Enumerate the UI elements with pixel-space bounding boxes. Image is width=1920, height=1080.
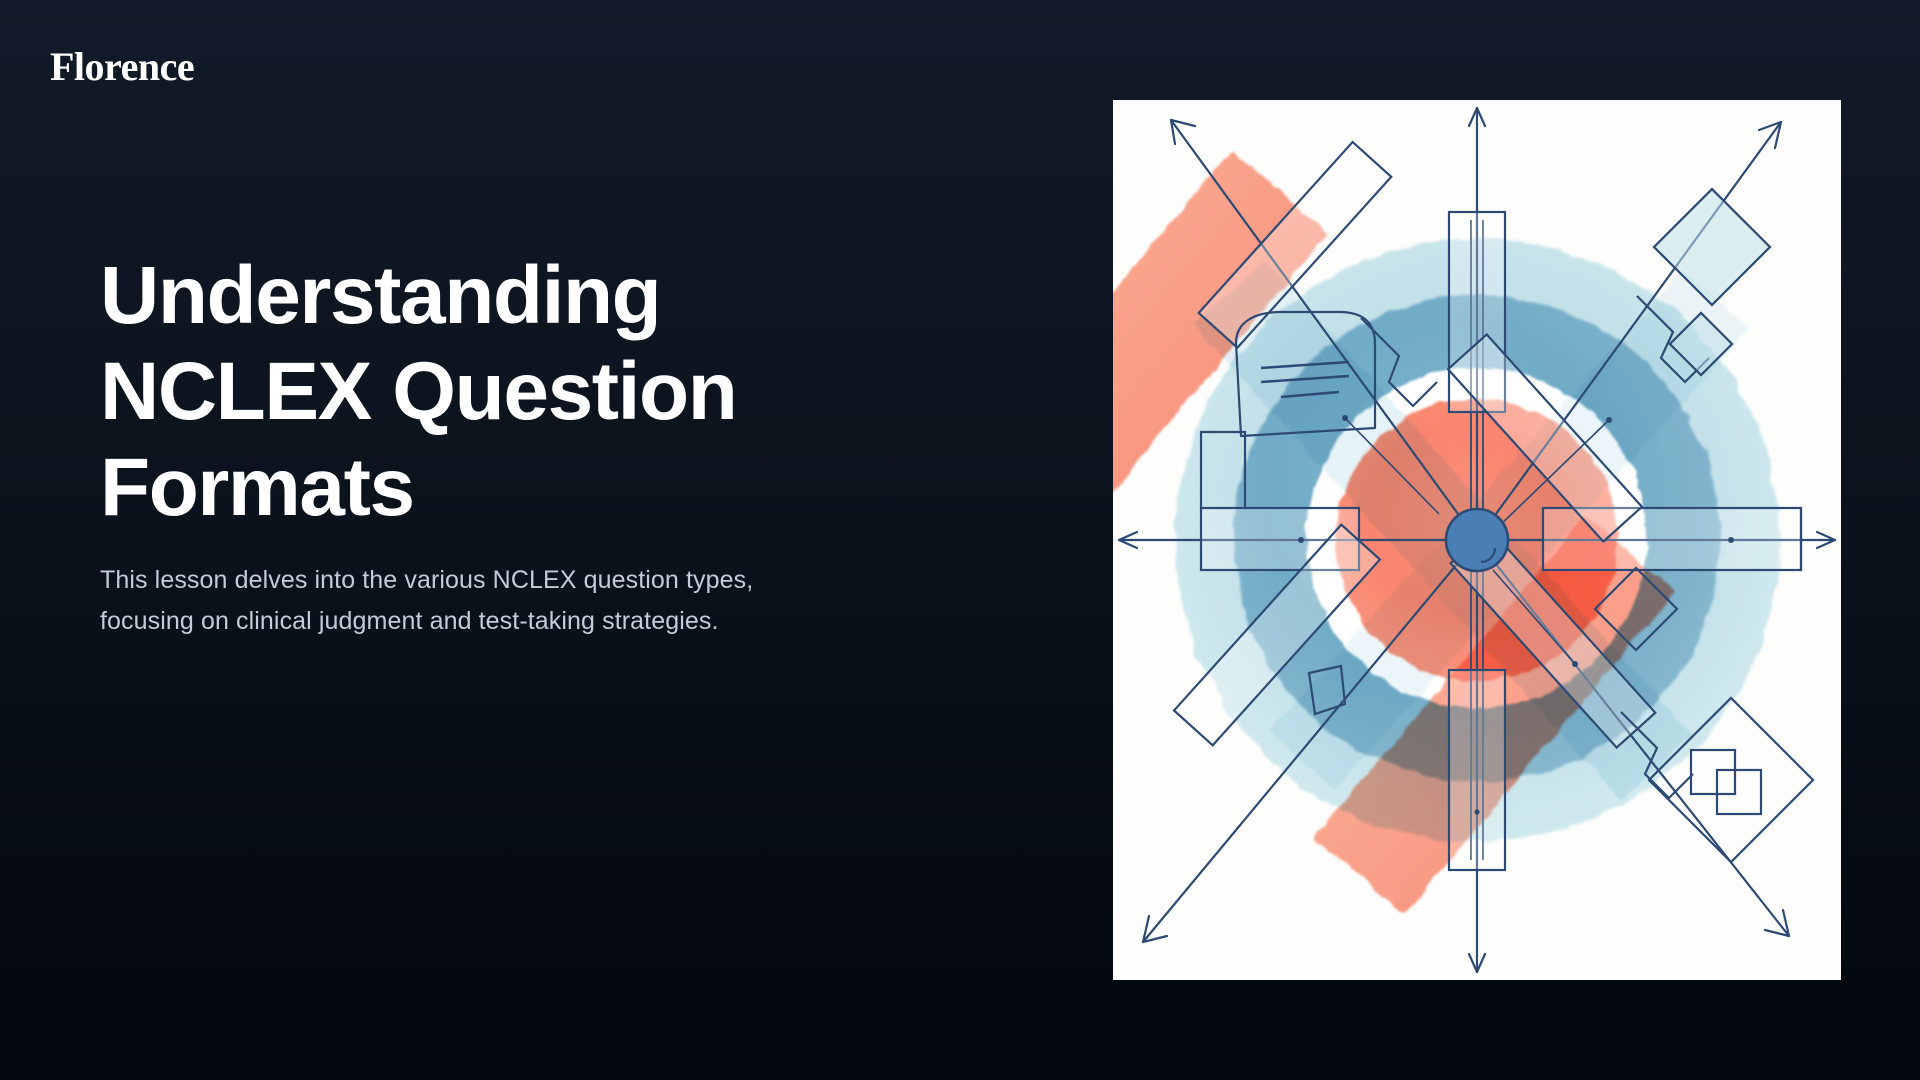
slide-text-column: Understanding NCLEX Question Formats Thi…	[100, 248, 860, 642]
radial-target-illustration	[1113, 100, 1841, 980]
illustration-panel	[1113, 100, 1841, 980]
center-hub	[1446, 509, 1508, 571]
brand-logo: Florence	[50, 47, 194, 87]
page-subtitle: This lesson delves into the various NCLE…	[100, 560, 800, 642]
page-title: Understanding NCLEX Question Formats	[100, 248, 860, 536]
